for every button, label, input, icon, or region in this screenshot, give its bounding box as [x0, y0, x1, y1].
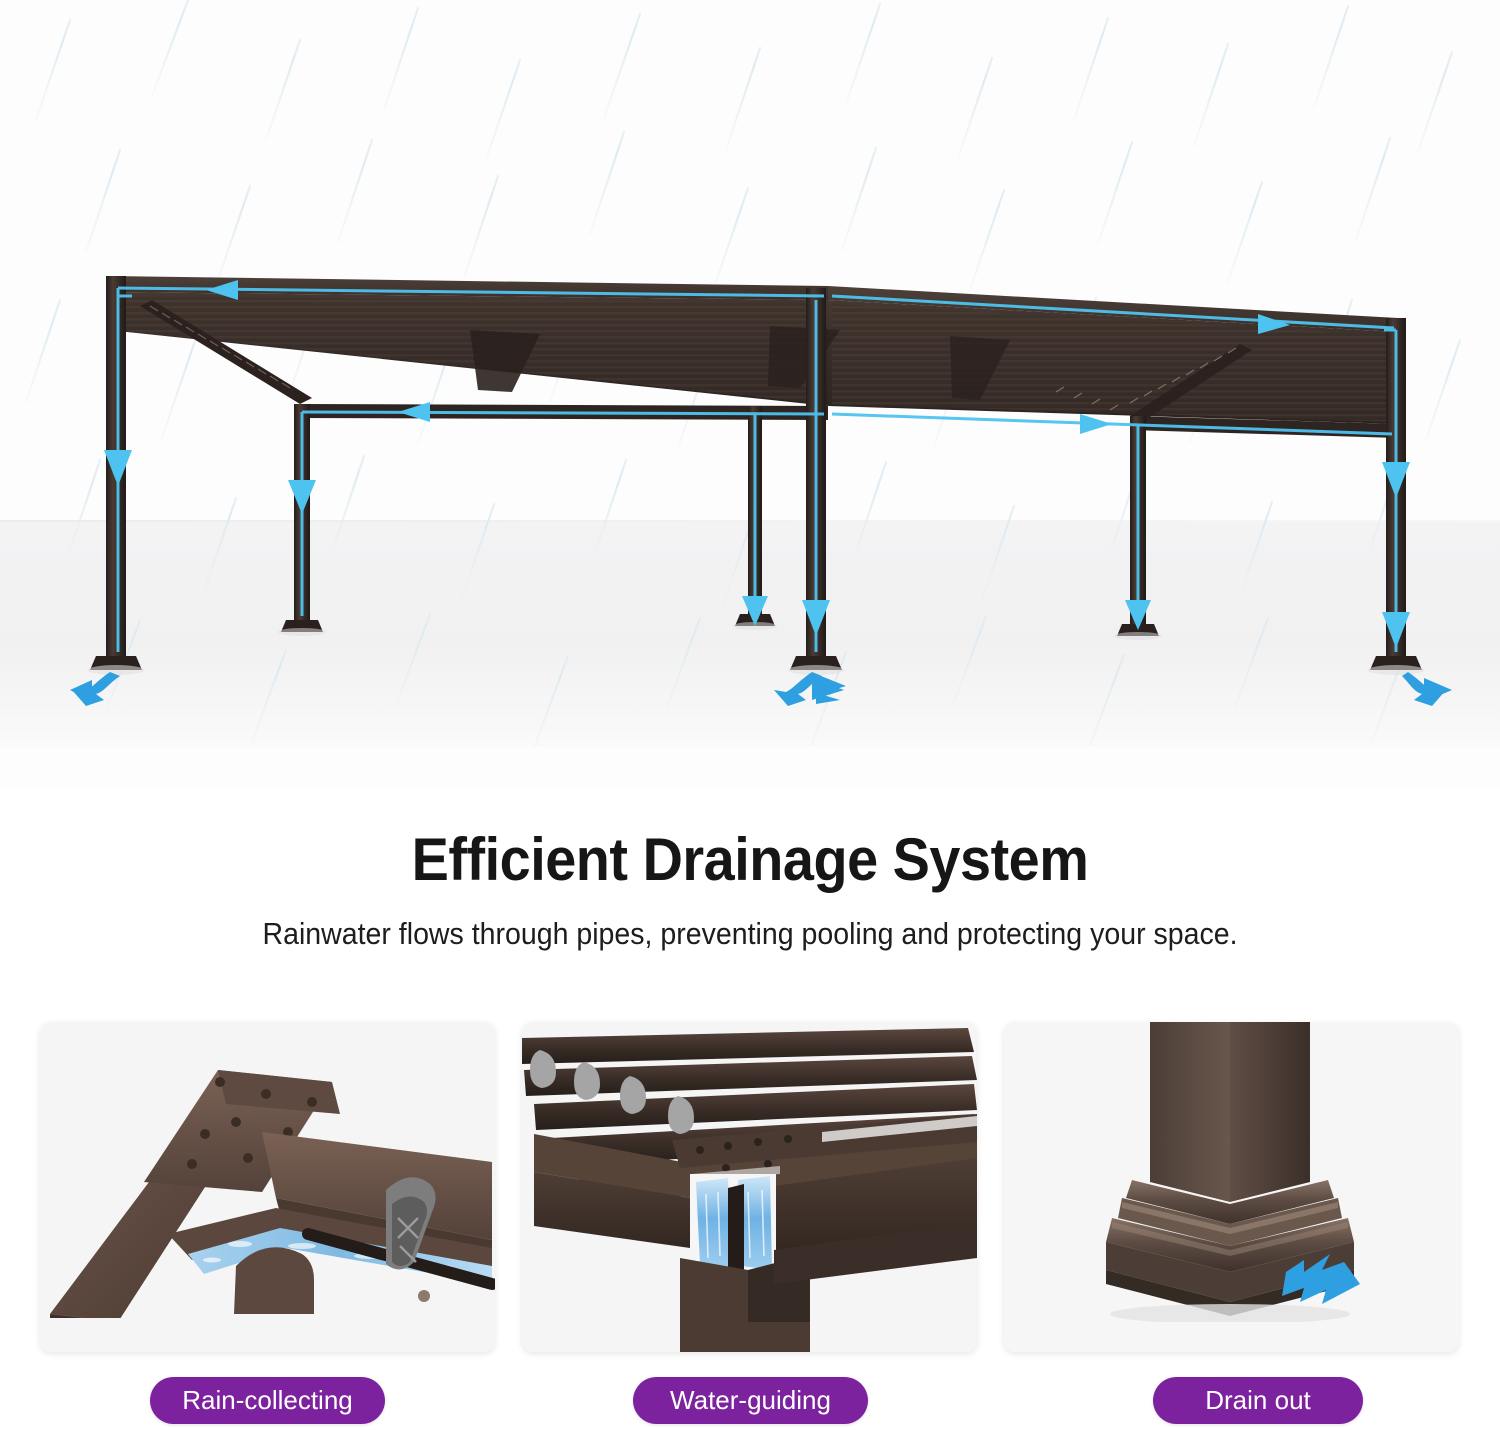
- badge-rain-collecting[interactable]: Rain-collecting: [150, 1377, 385, 1424]
- hero-illustration: [0, 0, 1500, 790]
- page-title: Efficient Drainage System: [53, 800, 1448, 894]
- headings-block: Efficient Drainage System Rainwater flow…: [0, 800, 1500, 990]
- card-water-guiding: [522, 1022, 977, 1352]
- badge-row: Rain-collecting Water-guiding Drain out: [0, 1377, 1500, 1430]
- water-guiding-illustration: [522, 1022, 977, 1352]
- badge-water-guiding[interactable]: Water-guiding: [633, 1377, 868, 1424]
- rain-collecting-illustration: [40, 1022, 495, 1352]
- card-drain-out: [1004, 1022, 1459, 1352]
- feature-cards: Rain-collecting Water-guiding Drain out: [0, 1022, 1500, 1430]
- pergola-structure: [0, 0, 1500, 790]
- page-subtitle: Rainwater flows through pipes, preventin…: [60, 894, 1440, 952]
- badge-drain-out[interactable]: Drain out: [1153, 1377, 1363, 1424]
- card-rain-collecting: [40, 1022, 495, 1352]
- drain-out-illustration: [1004, 1022, 1459, 1352]
